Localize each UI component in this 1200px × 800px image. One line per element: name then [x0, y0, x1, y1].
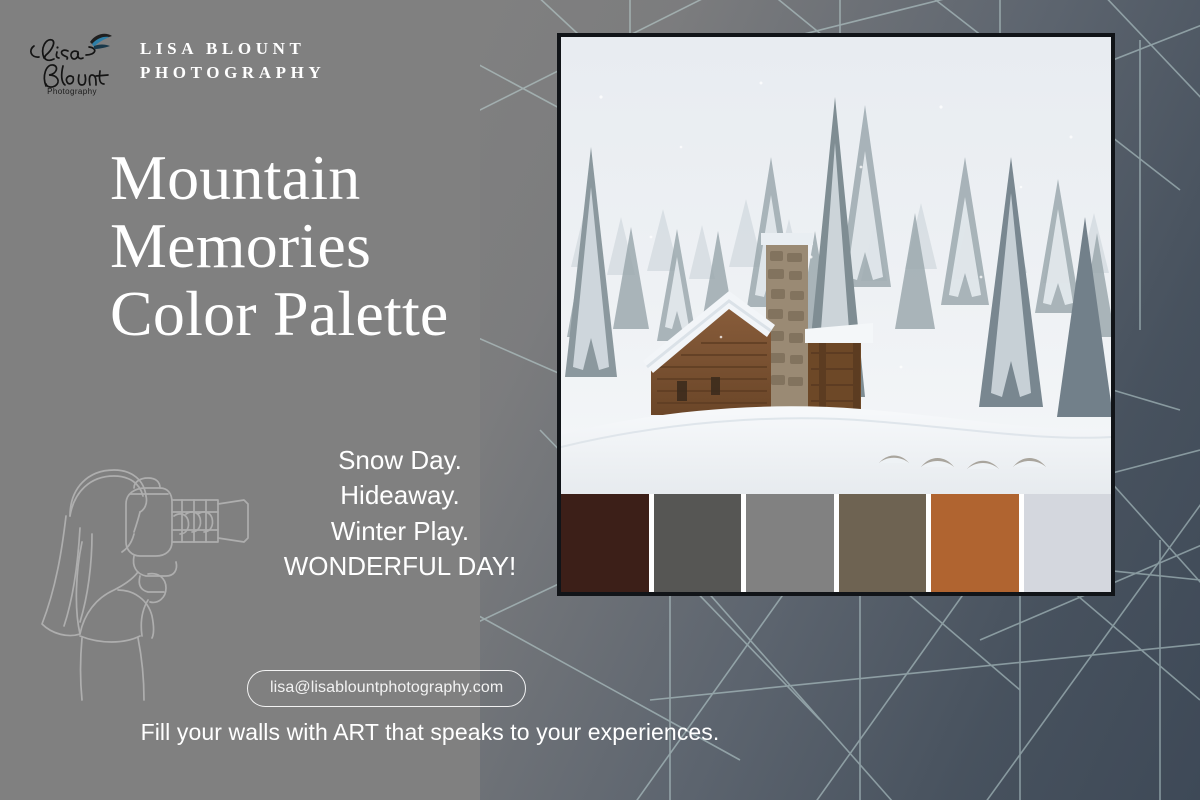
winter-cabin-photo: [561, 37, 1111, 498]
palette-swatch-1[interactable]: [654, 494, 742, 592]
poster-canvas: Photography LISA BLOUNT PHOTOGRAPHY Moun…: [0, 0, 1200, 800]
brand-logo-block[interactable]: Photography LISA BLOUNT PHOTOGRAPHY: [26, 24, 325, 96]
photographer-illustration-icon: [22, 438, 272, 703]
headline-line-1: Mountain: [110, 144, 540, 212]
palette-swatch-4[interactable]: [931, 494, 1019, 592]
brand-name-line1: LISA BLOUNT: [140, 40, 325, 57]
palette-swatch-2[interactable]: [746, 494, 834, 592]
page-title: Mountain Memories Color Palette: [110, 144, 540, 347]
headline-line-3: Color Palette: [110, 280, 540, 348]
palette-swatch-5[interactable]: [1024, 494, 1112, 592]
photo-and-palette-card: [557, 33, 1115, 596]
color-palette-strip: [561, 494, 1111, 592]
palette-swatch-0[interactable]: [561, 494, 649, 592]
brand-wordmark: LISA BLOUNT PHOTOGRAPHY: [140, 40, 325, 81]
svg-text:Photography: Photography: [47, 87, 97, 96]
palette-swatch-3[interactable]: [839, 494, 927, 592]
headline-line-2: Memories: [110, 212, 540, 280]
lisa-blount-script-logo-icon: Photography: [26, 24, 122, 96]
email-contact-button[interactable]: lisa@lisablountphotography.com: [247, 670, 526, 707]
brand-name-line2: PHOTOGRAPHY: [140, 64, 325, 81]
tagline-text: Fill your walls with ART that speaks to …: [0, 719, 860, 746]
